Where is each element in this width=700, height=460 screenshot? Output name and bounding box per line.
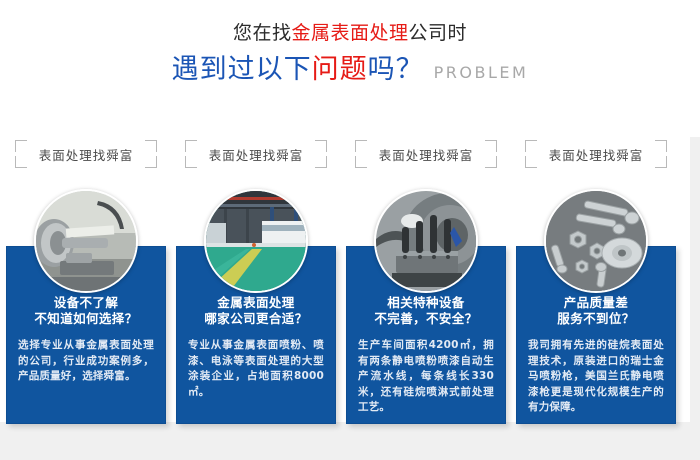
header-line2-emphasis: 问题 [312,54,368,85]
metal-tooling-photo [374,189,478,293]
problem-card[interactable]: 表面处理找舜富 相关特种设备 不完善，不安全？ 生产车间面积4200㎡，拥有两条… [346,137,506,427]
card-tag-text: 表面处理找舜富 [209,145,304,164]
header-line1-emphasis: 金属表面处理 [291,22,408,44]
corner-bracket-bottom-right-icon [145,156,157,168]
corner-bracket-bottom-left-icon [355,156,367,168]
card-title: 设备不了解 不知道如何选择？ [18,295,154,327]
card-title-line-2: 服务不到位？ [528,311,664,327]
card-title-line-1: 产品质量差 [528,295,664,311]
corner-bracket-bottom-left-icon [15,156,27,168]
corner-bracket-bottom-right-icon [655,156,667,168]
bolts-fasteners-photo [544,189,648,293]
page-header: 您在找金属表面处理公司时 遇到过以下问题吗？PROBLEM [0,18,700,90]
header-line-2: 遇到过以下问题吗？PROBLEM [0,53,700,90]
card-tag-label: 表面处理找舜富 [11,137,161,171]
corner-bracket-top-right-icon [315,140,327,152]
card-tag-label: 表面处理找舜富 [521,137,671,171]
card-title-line-1: 设备不了解 [18,295,154,311]
card-tag-text: 表面处理找舜富 [549,145,644,164]
card-tag-label: 表面处理找舜富 [181,137,331,171]
card-tag-text: 表面处理找舜富 [379,145,474,164]
card-body-text: 选择专业从事金属表面处理的公司，行业成功案例多，产品质量好，选择舜富。 [18,338,154,385]
card-title-line-1: 相关特种设备 [358,295,494,311]
card-tag-text: 表面处理找舜富 [39,145,134,164]
card-content: 产品质量差 服务不到位？ 我司拥有先进的硅烷表面处理技术，原装进口的瑞士金马喷粉… [517,295,675,416]
header-english-label: PROBLEM [434,63,529,82]
card-content: 金属表面处理 哪家公司更合适？ 专业从事金属表面喷粉、喷漆、电泳等表面处理的大型… [177,295,335,400]
problem-card-row: 表面处理找舜富 设备不了解 不知道如何选择？ 选择专业从事金属表面处理的公司，行… [0,137,700,427]
card-title: 相关特种设备 不完善，不安全？ [358,295,494,327]
corner-bracket-top-left-icon [185,140,197,152]
factory-workshop-photo [204,189,308,293]
header-line1-prefix: 您在找 [233,22,292,44]
header-line2-part-a: 遇到过以下 [172,54,312,85]
card-title-line-1: 金属表面处理 [188,295,324,311]
header-line2-part-b: 吗？ [368,54,424,85]
card-body-text: 我司拥有先进的硅烷表面处理技术，原装进口的瑞士金马喷粉枪，美国兰氏静电喷漆枪更是… [528,338,664,416]
problem-card[interactable]: 表面处理找舜富 金属表面处理 哪家公司更合适？ 专业从事金属表面喷粉、喷漆、电泳… [176,137,336,427]
corner-bracket-top-left-icon [15,140,27,152]
card-title: 产品质量差 服务不到位？ [528,295,664,327]
header-line-1: 您在找金属表面处理公司时 [0,18,700,48]
corner-bracket-top-right-icon [145,140,157,152]
card-title: 金属表面处理 哪家公司更合适？ [188,295,324,327]
corner-bracket-top-right-icon [655,140,667,152]
card-body-text: 生产车间面积4200㎡，拥有两条静电喷粉喷漆自动生产流水线，每条线长330米，还… [358,338,494,416]
card-title-line-2: 哪家公司更合适？ [188,311,324,327]
corner-bracket-bottom-right-icon [485,156,497,168]
promo-page: 您在找金属表面处理公司时 遇到过以下问题吗？PROBLEM 表面处理找舜富 设备… [0,0,700,460]
corner-bracket-bottom-right-icon [315,156,327,168]
card-tag-label: 表面处理找舜富 [351,137,501,171]
card-content: 相关特种设备 不完善，不安全？ 生产车间面积4200㎡，拥有两条静电喷粉喷漆自动… [347,295,505,416]
problem-card[interactable]: 表面处理找舜富 设备不了解 不知道如何选择？ 选择专业从事金属表面处理的公司，行… [6,137,166,427]
problem-card[interactable]: 表面处理找舜富 产品质量差 服务不到位？ 我司拥有先进的硅烷表面处理技术，原装进… [516,137,676,427]
card-title-line-2: 不知道如何选择？ [18,311,154,327]
corner-bracket-top-left-icon [355,140,367,152]
card-body-text: 专业从事金属表面喷粉、喷漆、电泳等表面处理的大型涂装企业，占地面积8000㎡。 [188,338,324,400]
card-content: 设备不了解 不知道如何选择？ 选择专业从事金属表面处理的公司，行业成功案例多，产… [7,295,165,385]
corner-bracket-bottom-left-icon [185,156,197,168]
header-line1-suffix: 公司时 [409,22,468,44]
corner-bracket-bottom-left-icon [525,156,537,168]
corner-bracket-top-left-icon [525,140,537,152]
corner-bracket-top-right-icon [485,140,497,152]
lathe-machining-photo [34,189,138,293]
card-title-line-2: 不完善，不安全？ [358,311,494,327]
